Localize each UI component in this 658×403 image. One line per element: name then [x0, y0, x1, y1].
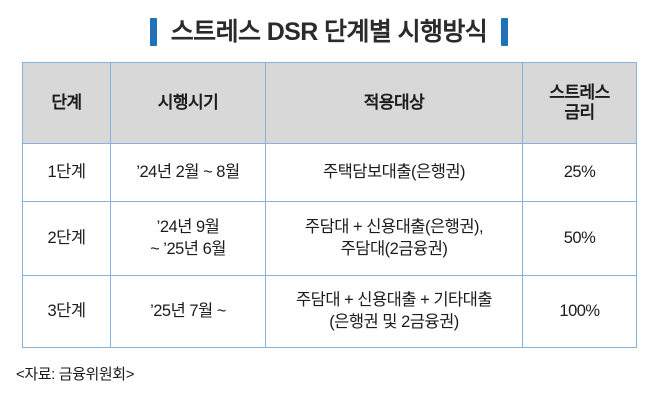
cell-rate: 100%: [523, 276, 637, 348]
page-title: 스트레스 DSR 단계별 시행방식: [0, 12, 658, 52]
table-header: 단계 시행시기 적용대상 스트레스 금리: [23, 63, 637, 144]
cell-target-line1: 주담대 + 신용대출(은행권),: [270, 217, 518, 238]
cell-time-line1: ’25년 7월 ~: [115, 301, 261, 322]
title-accent-bar-right-icon: [501, 18, 508, 46]
cell-time: ’24년 2월 ~ 8월: [111, 144, 266, 202]
cell-time-line1: ’24년 9월: [115, 217, 261, 238]
cell-target: 주담대 + 신용대출 + 기타대출 (은행권 및 2금융권): [266, 276, 523, 348]
cell-rate: 25%: [523, 144, 637, 202]
cell-target-line1: 주택담보대출(은행권): [270, 162, 518, 183]
table-header-row: 단계 시행시기 적용대상 스트레스 금리: [23, 63, 637, 144]
table-row: 1단계 ’24년 2월 ~ 8월 주택담보대출(은행권) 25%: [23, 144, 637, 202]
table-row: 2단계 ’24년 9월 ~ ’25년 6월 주담대 + 신용대출(은행권), 주…: [23, 202, 637, 276]
column-header-target: 적용대상: [266, 63, 523, 144]
column-header-rate-line2: 금리: [527, 103, 632, 123]
cell-target: 주택담보대출(은행권): [266, 144, 523, 202]
cell-time-line2: ~ ’25년 6월: [115, 239, 261, 260]
source-note: <자료: 금융위원회>: [16, 363, 134, 384]
cell-target-line2: (은행권 및 2금융권): [270, 312, 518, 333]
cell-stage: 1단계: [23, 144, 111, 202]
dsr-phase-table-wrapper: 단계 시행시기 적용대상 스트레스 금리 1단계 ’24년 2월 ~ 8월: [22, 62, 636, 347]
column-header-stage: 단계: [23, 63, 111, 144]
cell-time: ’25년 7월 ~: [111, 276, 266, 348]
infographic-page: 스트레스 DSR 단계별 시행방식 단계 시행시기 적용대상 스트레스 금리: [0, 0, 658, 403]
dsr-phase-table: 단계 시행시기 적용대상 스트레스 금리 1단계 ’24년 2월 ~ 8월: [22, 62, 637, 348]
cell-stage: 2단계: [23, 202, 111, 276]
page-title-text: 스트레스 DSR 단계별 시행방식: [171, 20, 487, 45]
column-header-time: 시행시기: [111, 63, 266, 144]
column-header-rate: 스트레스 금리: [523, 63, 637, 144]
cell-target: 주담대 + 신용대출(은행권), 주담대(2금융권): [266, 202, 523, 276]
title-accent-bar-left-icon: [150, 18, 157, 46]
cell-target-line1: 주담대 + 신용대출 + 기타대출: [270, 290, 518, 311]
cell-stage: 3단계: [23, 276, 111, 348]
column-header-rate-line1: 스트레스: [527, 83, 632, 103]
cell-time: ’24년 9월 ~ ’25년 6월: [111, 202, 266, 276]
table-row: 3단계 ’25년 7월 ~ 주담대 + 신용대출 + 기타대출 (은행권 및 2…: [23, 276, 637, 348]
cell-target-line2: 주담대(2금융권): [270, 239, 518, 260]
table-body: 1단계 ’24년 2월 ~ 8월 주택담보대출(은행권) 25% 2단계 ’24…: [23, 144, 637, 348]
cell-time-line1: ’24년 2월 ~ 8월: [115, 162, 261, 183]
cell-rate: 50%: [523, 202, 637, 276]
